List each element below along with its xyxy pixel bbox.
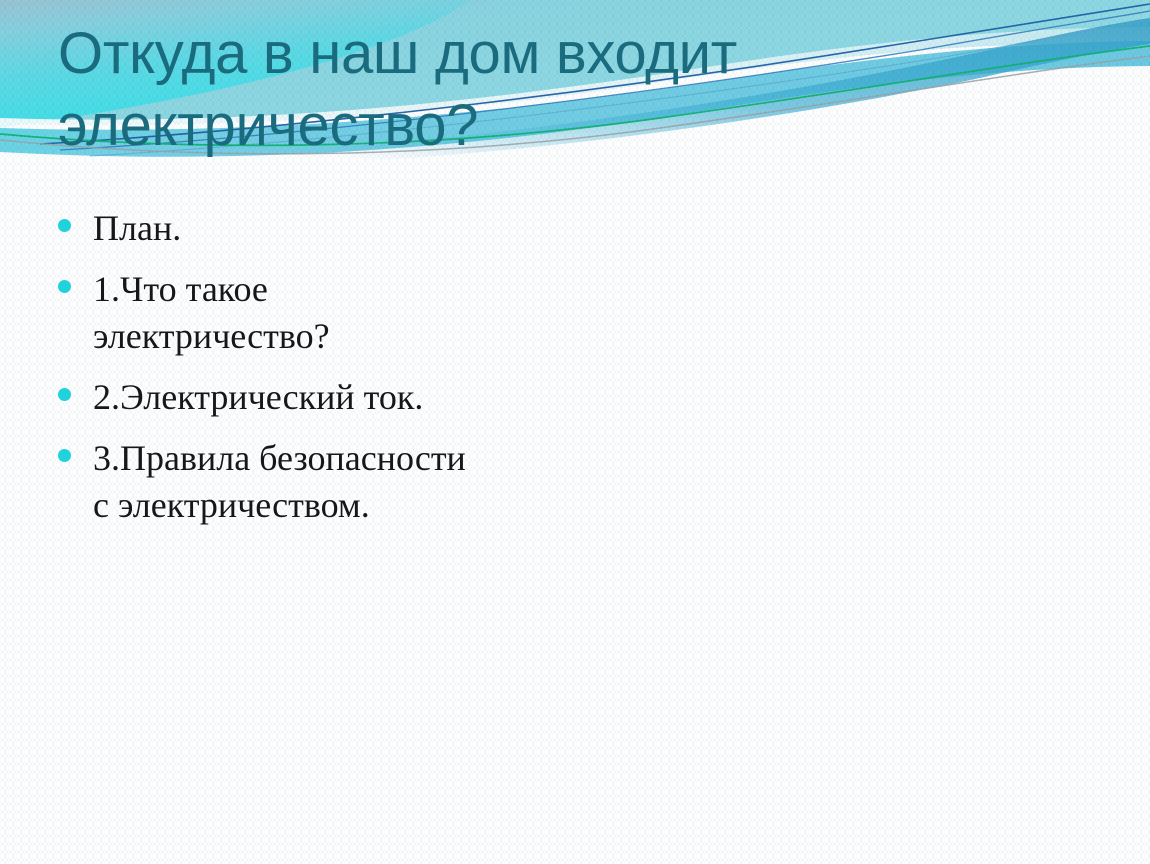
list-item-label: 3.Правила безопасности с электричеством.: [93, 435, 488, 529]
list-item: 1.Что такое электричество?: [58, 266, 488, 360]
presentation-slide: Откуда в наш дом входит электричество? П…: [0, 0, 1150, 864]
slide-title: Откуда в наш дом входит электричество?: [58, 18, 1078, 162]
slide-title-line-2: электричество?: [58, 90, 1078, 162]
bullet-dot-icon: [58, 219, 71, 232]
list-item: План.: [58, 205, 488, 252]
list-item: 3.Правила безопасности с электричеством.: [58, 435, 488, 529]
slide-title-line-1: Откуда в наш дом входит: [58, 18, 1078, 90]
list-item-label: 1.Что такое электричество?: [93, 266, 488, 360]
list-item-label: 2.Электрический ток.: [93, 374, 488, 421]
list-item-label: План.: [93, 205, 488, 252]
list-item: 2.Электрический ток.: [58, 374, 488, 421]
bullet-dot-icon: [58, 388, 71, 401]
bullet-dot-icon: [58, 280, 71, 293]
bullet-dot-icon: [58, 449, 71, 462]
slide-body-list: План. 1.Что такое электричество? 2.Элект…: [58, 205, 488, 543]
